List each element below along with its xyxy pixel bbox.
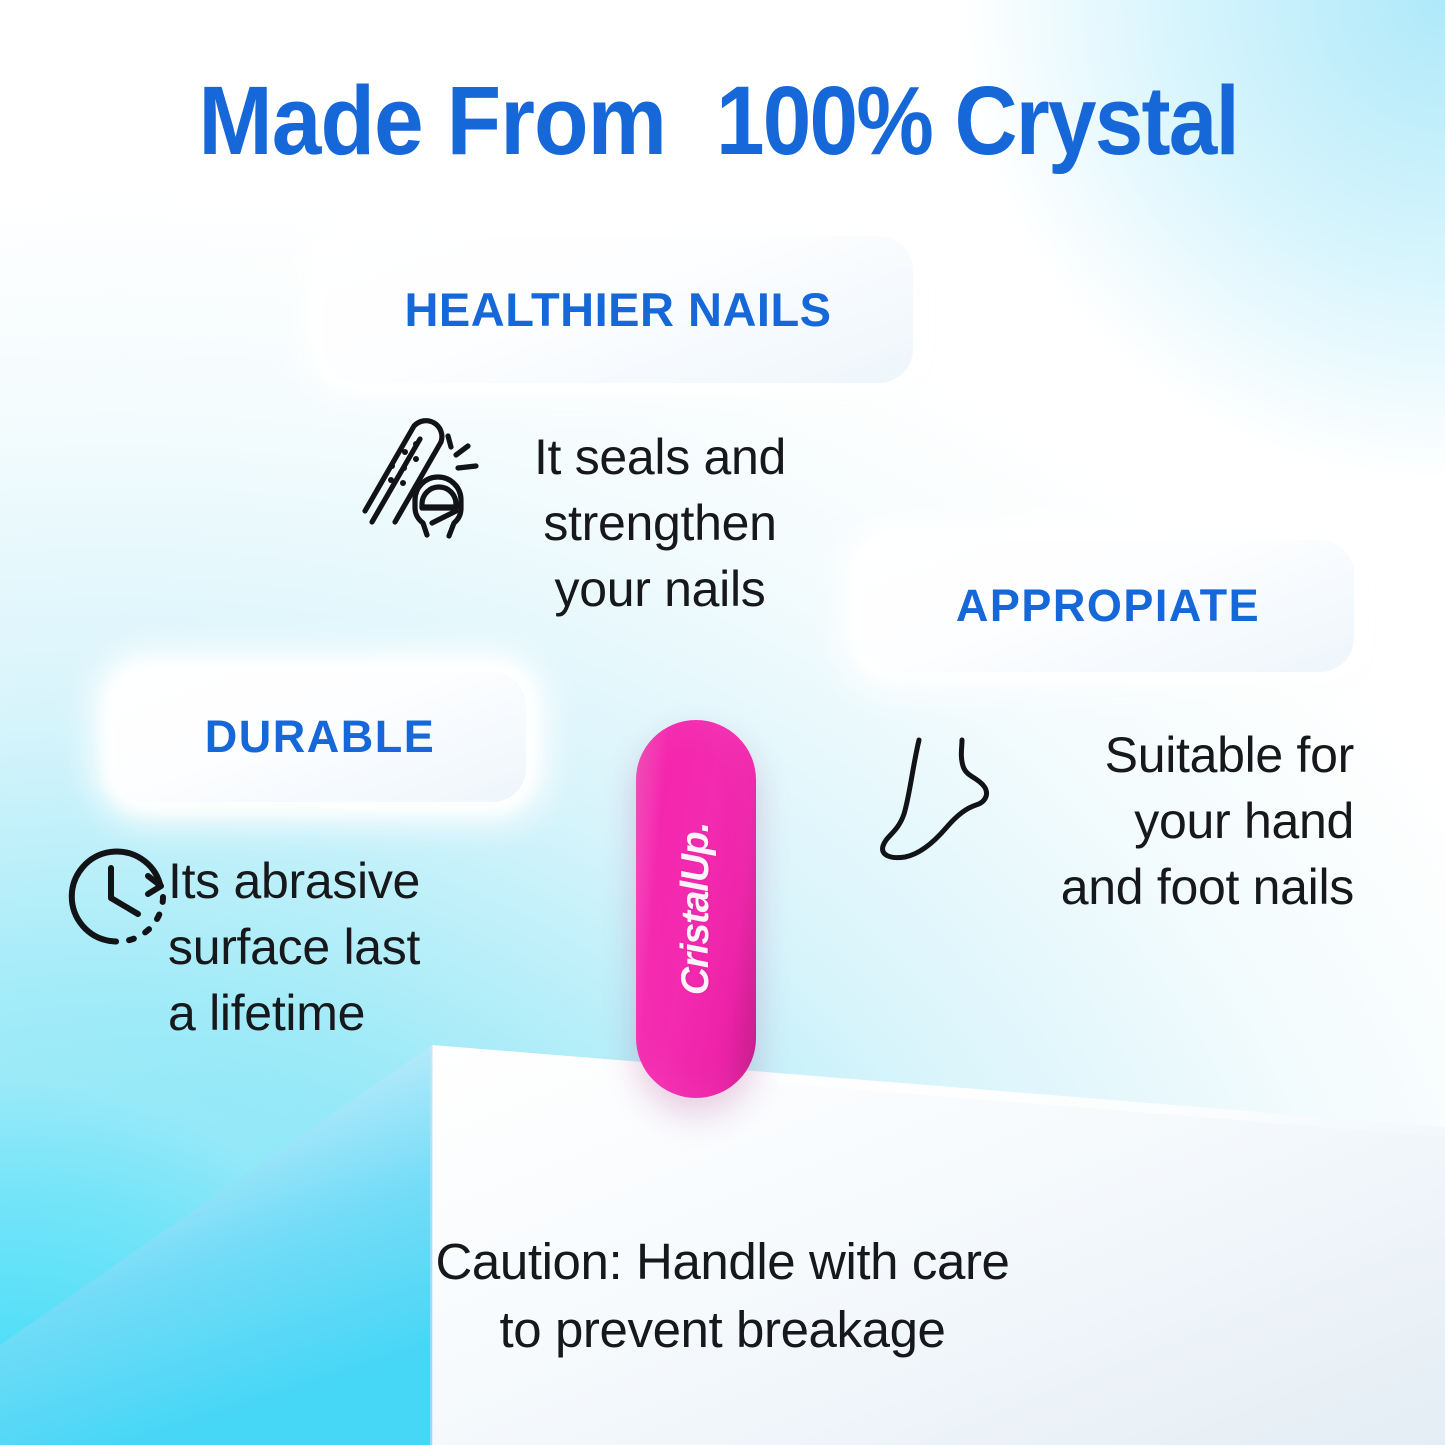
nail-file-icon — [352, 404, 492, 544]
feature-text-durable: Its abrasive surface last a lifetime — [168, 848, 488, 1046]
feature3-line1: Its abrasive — [168, 853, 420, 909]
crystal-nail-file-product: CristalUp. — [636, 720, 756, 1098]
badge-healthier-label: HEALTHIER NAILS — [404, 282, 831, 337]
feature3-line3: a lifetime — [168, 985, 365, 1041]
feature2-line2: your hand — [1134, 793, 1354, 849]
title-part-light: Made From — [199, 72, 667, 169]
badge-appropiate-label: APPROPIATE — [956, 580, 1260, 632]
infographic-canvas: Made From 100% Crystal HEALTHIER NAILS A… — [0, 0, 1445, 1445]
caution-line-1: Caution: Handle with care — [0, 1228, 1445, 1296]
feature2-line3: and foot nails — [1061, 859, 1354, 915]
feature2-line1: Suitable for — [1105, 727, 1354, 783]
feature1-line2: strengthen — [543, 495, 776, 551]
badge-healthier-nails: HEALTHIER NAILS — [323, 236, 913, 383]
feature-text-healthier: It seals and strengthen your nails — [500, 424, 820, 622]
product-brand-label: CristalUp. — [674, 823, 718, 995]
clock-icon — [62, 838, 180, 956]
page-title: Made From 100% Crystal — [0, 72, 1445, 169]
feature1-line3: your nails — [555, 561, 766, 617]
caution-note: Caution: Handle with care to prevent bre… — [0, 1228, 1445, 1365]
feature-text-appropiate: Suitable for your hand and foot nails — [962, 722, 1354, 920]
title-part-heavy: 100% Crystal — [716, 72, 1238, 169]
feature1-line1: It seals and — [534, 429, 786, 485]
badge-appropiate: APPROPIATE — [862, 540, 1354, 672]
caution-line-2: to prevent breakage — [0, 1296, 1445, 1364]
badge-durable: DURABLE — [114, 672, 526, 802]
badge-durable-label: DURABLE — [205, 711, 436, 763]
feature3-line2: surface last — [168, 919, 420, 975]
